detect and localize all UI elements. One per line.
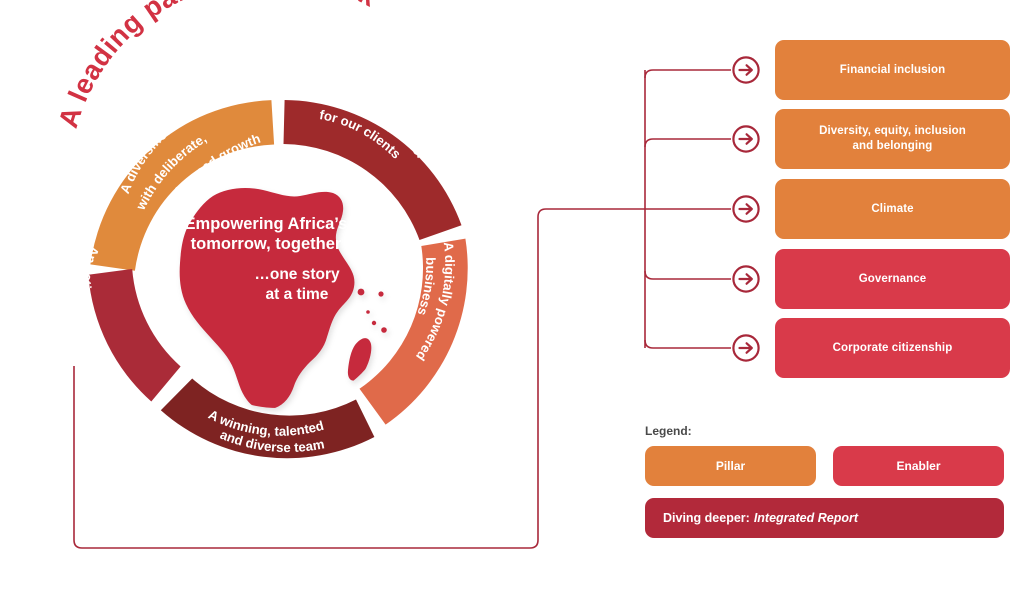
item-row-climate[interactable]: Climate (731, 179, 1010, 239)
center-line-4: at a time (266, 286, 329, 303)
segment-active-force[interactable] (88, 269, 180, 402)
legend-chip-row: Pillar Enabler (645, 446, 1024, 486)
arrow-circle-right-icon[interactable] (731, 194, 761, 224)
enabler-box-governance[interactable]: Governance (775, 249, 1010, 309)
item-row-financial-inclusion[interactable]: Financial inclusion (731, 40, 1010, 100)
diving-deeper-emphasis: Integrated Report (750, 511, 858, 525)
item-row-diversity-equity-inclusion[interactable]: Diversity, equity, inclusion and belongi… (731, 109, 1010, 169)
infographic-canvas: Empowering Africa’s tomorrow, together …… (0, 0, 1024, 591)
pillar-box-climate[interactable]: Climate (775, 179, 1010, 239)
pillar-box-financial-inclusion[interactable]: Financial inclusion (775, 40, 1010, 100)
center-line-3: …one story (254, 266, 340, 283)
enabler-box-corporate-citizenship[interactable]: Corporate citizenship (775, 318, 1010, 378)
legend-title: Legend: (645, 424, 1024, 438)
arrow-circle-right-icon[interactable] (731, 124, 761, 154)
legend-chip-pillar[interactable]: Pillar (645, 446, 816, 486)
center-line-2: tomorrow, together (191, 235, 342, 253)
diving-deeper-prefix: Diving deeper: (663, 511, 750, 525)
diving-deeper-bar[interactable]: Diving deeper: Integrated Report (645, 498, 1004, 538)
arrow-circle-right-icon[interactable] (731, 264, 761, 294)
arrow-circle-right-icon[interactable] (731, 55, 761, 85)
item-row-corporate-citizenship[interactable]: Corporate citizenship (731, 318, 1010, 378)
pillar-box-diversity-equity-inclusion[interactable]: Diversity, equity, inclusion and belongi… (775, 109, 1010, 169)
strategy-donut: Empowering Africa’s tomorrow, together …… (0, 0, 640, 591)
center-line-1: Empowering Africa’s (185, 215, 348, 233)
legend: Legend: Pillar Enabler Diving deeper: In… (645, 424, 1024, 538)
arrow-circle-right-icon[interactable] (731, 333, 761, 363)
item-row-governance[interactable]: Governance (731, 249, 1010, 309)
pillars-enablers-panel: Financial inclusion Diversity, equity, i… (645, 0, 1024, 591)
legend-chip-enabler[interactable]: Enabler (833, 446, 1004, 486)
